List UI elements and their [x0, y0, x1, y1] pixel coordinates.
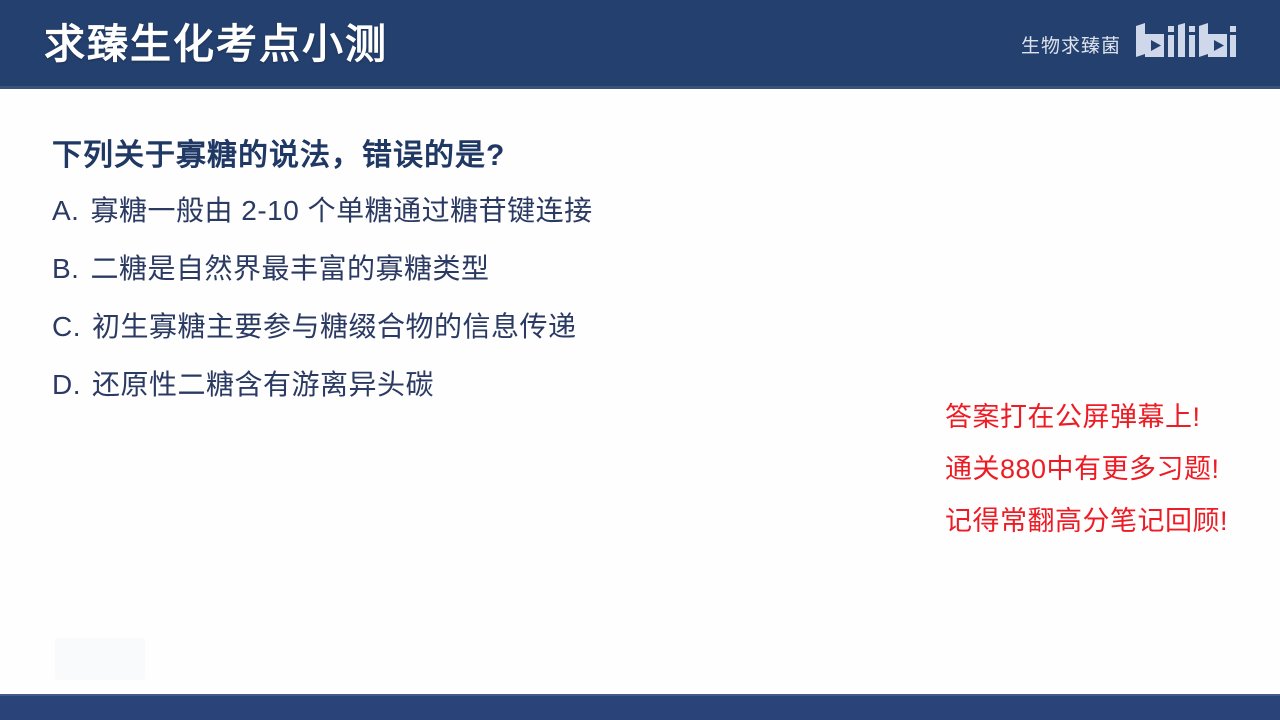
slide-body: 下列关于寡糖的说法，错误的是? A. 寡糖一般由 2-10 个单糖通过糖苷键连接…	[0, 89, 1280, 694]
note-line-3: 记得常翻高分笔记回顾!	[945, 508, 1228, 535]
question-text: 下列关于寡糖的说法，错误的是?	[52, 137, 1228, 175]
options-list: A. 寡糖一般由 2-10 个单糖通过糖苷键连接 B. 二糖是自然界最丰富的寡糖…	[52, 197, 1228, 399]
option-b[interactable]: B. 二糖是自然界最丰富的寡糖类型	[52, 255, 1228, 283]
slide-footer-bar	[0, 694, 1280, 720]
option-a-label: A.	[52, 197, 79, 225]
note-line-2: 通关880中有更多习题!	[945, 456, 1228, 483]
slide-header: 求臻生化考点小测 生物求臻菌	[0, 0, 1280, 89]
slide: 求臻生化考点小测 生物求臻菌	[0, 0, 1280, 720]
option-d-label: D.	[52, 371, 81, 399]
option-c-text: 初生寡糖主要参与糖缀合物的信息传递	[92, 313, 577, 341]
page-title: 求臻生化考点小测	[44, 24, 388, 65]
option-a[interactable]: A. 寡糖一般由 2-10 个单糖通过糖苷键连接	[52, 197, 1228, 225]
option-d[interactable]: D. 还原性二糖含有游离异头碳	[52, 371, 1228, 399]
brand-block: 生物求臻菌	[1021, 23, 1254, 66]
faint-watermark	[55, 638, 145, 680]
bilibili-logo-icon	[1134, 23, 1242, 66]
option-b-text: 二糖是自然界最丰富的寡糖类型	[90, 255, 489, 283]
option-c[interactable]: C. 初生寡糖主要参与糖缀合物的信息传递	[52, 313, 1228, 341]
option-d-text: 还原性二糖含有游离异头碳	[92, 371, 434, 399]
brand-channel-name: 生物求臻菌	[1021, 31, 1121, 58]
option-b-label: B.	[52, 255, 79, 283]
option-a-text: 寡糖一般由 2-10 个单糖通过糖苷键连接	[90, 197, 592, 225]
note-line-1: 答案打在公屏弹幕上!	[945, 404, 1228, 431]
option-c-label: C.	[52, 313, 81, 341]
notes-block: 答案打在公屏弹幕上! 通关880中有更多习题! 记得常翻高分笔记回顾!	[945, 404, 1228, 535]
